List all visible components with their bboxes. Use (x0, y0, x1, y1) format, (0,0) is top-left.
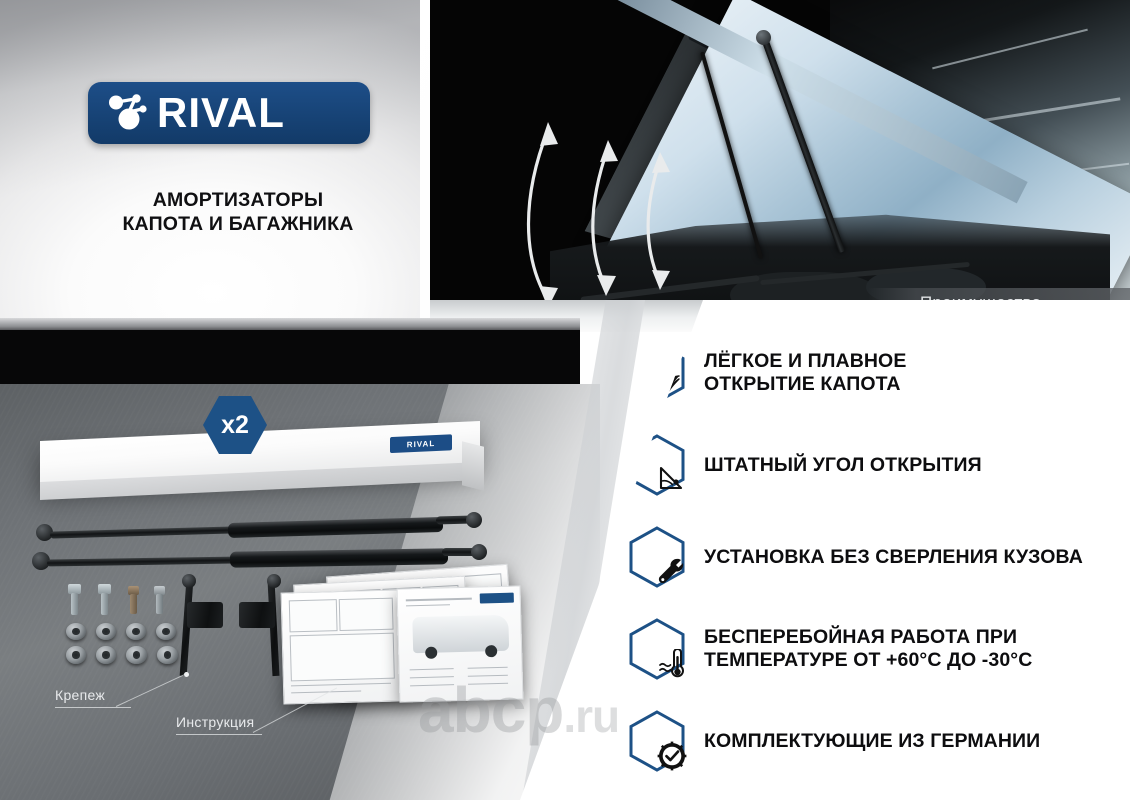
feature-item-standard-angle: ШТАТНЫЙ УГОЛ ОТКРЫТИЯ (628, 434, 1128, 496)
feature-item-german-components: КОМПЛЕКТУЮЩИЕ ИЗ ГЕРМАНИИ (628, 710, 1128, 772)
feature-label: КОМПЛЕКТУЮЩИЕ ИЗ ГЕРМАНИИ (704, 730, 1040, 753)
lock-nut (96, 646, 116, 664)
thermometer-icon (628, 618, 686, 680)
sheet-brand-logo (480, 593, 514, 604)
washer (126, 646, 147, 664)
strut-eyelet (466, 512, 482, 528)
lock-nut (66, 646, 86, 664)
retail-box-end (462, 441, 484, 490)
callout-krepezh: Крепеж (55, 687, 105, 703)
feature-list: ЛЁГКОЕ И ПЛАВНОЕ ОТКРЫТИЕ КАПОТА (628, 342, 1128, 800)
feature-label: БЕСПЕРЕБОЙНАЯ РАБОТА ПРИ ТЕМПЕРАТУРЕ ОТ … (704, 626, 1032, 672)
strut-cylinder (230, 548, 448, 567)
bracket-plate (187, 602, 223, 628)
feature-item-easy-opening: ЛЁГКОЕ И ПЛАВНОЕ ОТКРЫТИЕ КАПОТА (628, 342, 1128, 404)
bolt-shaft (156, 594, 163, 614)
washer (156, 623, 176, 640)
instruction-sheet-left-page (281, 589, 404, 704)
bolt-shaft (71, 593, 78, 615)
strut-eyelet (471, 544, 487, 560)
page-title-line2: КАПОТА И БАГАЖНИКА (88, 212, 388, 236)
feature-item-temperature-range: БЕСПЕРЕБОЙНАЯ РАБОТА ПРИ ТЕМПЕРАТУРЕ ОТ … (628, 618, 1128, 680)
box-brand-logo: RIVAL (390, 434, 452, 453)
feature-label: ШТАТНЫЙ УГОЛ ОТКРЫТИЯ (704, 454, 982, 477)
quantity-badge-label: x2 (221, 411, 249, 440)
feature-label: ЛЁГКОЕ И ПЛАВНОЕ ОТКРЫТИЕ КАПОТА (704, 350, 906, 396)
leaf-icon (628, 342, 686, 404)
bolt-shaft (130, 594, 137, 614)
washer (157, 646, 178, 664)
callout-instrukciya-label: Инструкция (176, 714, 254, 730)
strut-ball-joint (756, 30, 771, 45)
angle-icon (628, 434, 686, 496)
feature-label: УСТАНОВКА БЕЗ СВЕРЛЕНИЯ КУЗОВА (704, 546, 1083, 569)
washer (66, 623, 86, 640)
bracket-ball-stud (267, 574, 281, 588)
callout-instrukciya: Инструкция (176, 714, 254, 730)
callout-krepezh-label: Крепеж (55, 687, 105, 703)
bolt-shaft (101, 593, 108, 615)
instruction-sheet-right-page (397, 585, 524, 702)
bracket-plate (239, 602, 275, 628)
washer (96, 623, 116, 640)
check-badge-icon (628, 710, 686, 772)
brand-name: RIVAL (157, 92, 285, 134)
wrench-icon (628, 526, 686, 588)
product-banner: Преимущества RIVAL (0, 0, 1130, 800)
divider-black-band (0, 330, 580, 386)
bracket-ball-stud (182, 574, 196, 588)
molecule-icon (105, 90, 151, 137)
page-title: АМОРТИЗАТОРЫ КАПОТА И БАГАЖНИКА (88, 188, 388, 237)
product-kit-photo: RIVAL (0, 384, 600, 800)
hero-photo-open-hood: Преимущества (430, 0, 1130, 332)
washer (126, 623, 146, 640)
page-title-line1: АМОРТИЗАТОРЫ (88, 188, 388, 212)
feature-item-no-drilling: УСТАНОВКА БЕЗ СВЕРЛЕНИЯ КУЗОВА (628, 526, 1128, 588)
brand-logo: RIVAL (88, 82, 370, 144)
